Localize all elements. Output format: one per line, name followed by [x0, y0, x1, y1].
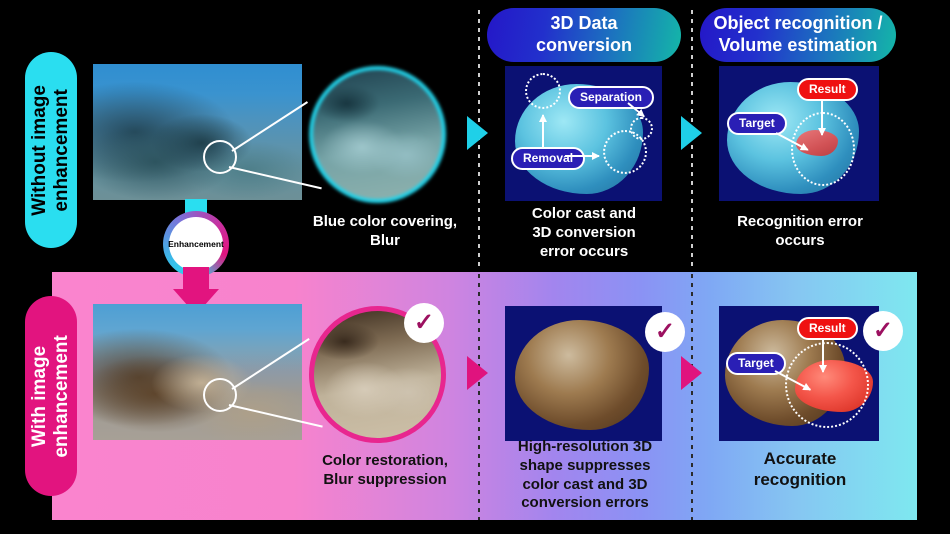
figure-canvas: 3D Data conversion Object recognition / …	[0, 0, 950, 534]
caption-line-1: Accurate	[710, 448, 890, 469]
caption-line-1: Recognition error	[710, 213, 890, 232]
flow-arrow-bottom-2	[681, 356, 702, 390]
caption-3d-raw: Color cast and 3D conversion error occur…	[495, 205, 673, 261]
header-pill-3d-conversion: 3D Data conversion	[487, 8, 681, 62]
enhancement-badge-inner: Enhancement	[169, 217, 223, 271]
tag-removal: Removal	[511, 147, 585, 170]
caption-line-2: Blur suppression	[290, 471, 480, 490]
flow-arrow-top-1	[467, 116, 488, 150]
tag-result-raw: Result	[797, 78, 858, 101]
panel-3d-raw: Separation Removal	[505, 66, 662, 201]
flow-arrow-bottom-1	[467, 356, 488, 390]
dotted-ring-removal-region	[525, 73, 561, 109]
caption-line-2: 3D conversion	[495, 224, 673, 243]
arrow-result-raw	[821, 101, 823, 135]
row-label-line-2: enhancement	[51, 335, 72, 457]
magnifier-raw-detail	[309, 66, 446, 203]
caption-enhanced-photo: Color restoration, Blur suppression	[290, 452, 480, 490]
model-3d-enhanced	[515, 320, 649, 430]
caption-line-1: Blue color covering,	[290, 213, 480, 232]
enhancement-arrow-shaft	[183, 267, 209, 291]
row-label-line-1: Without image	[29, 85, 50, 216]
row-label-line-1: With image	[29, 345, 50, 446]
caption-recognition-enhanced: Accurate recognition	[710, 448, 890, 491]
check-badge-3d-enhanced: ✓	[645, 312, 685, 352]
header-line-1: Object recognition /	[713, 13, 882, 35]
panel-recognition-enhanced: Result Target	[719, 306, 879, 441]
flow-arrow-top-2	[681, 116, 702, 150]
enhancement-label: Enhancement	[168, 239, 224, 249]
header-line-1: 3D Data	[536, 13, 632, 35]
arrow-removal-to-right-region	[565, 155, 599, 157]
row-label-line-2: enhancement	[51, 89, 72, 211]
caption-line-2: occurs	[710, 232, 890, 251]
arrow-removal-to-top-region	[542, 115, 544, 147]
caption-3d-enhanced: High-resolution 3D shape suppresses colo…	[495, 438, 675, 513]
caption-line-1: High-resolution 3D	[495, 438, 675, 457]
caption-line-1: Color cast and	[495, 205, 673, 224]
header-line-2: conversion	[536, 35, 632, 57]
caption-line-2: recognition	[710, 469, 890, 490]
photo-enhanced-underwater	[93, 304, 302, 440]
panel-3d-enhanced	[505, 306, 662, 441]
caption-recognition-raw: Recognition error occurs	[710, 213, 890, 251]
caption-line-4: conversion errors	[495, 494, 675, 513]
header-line-2: Volume estimation	[713, 35, 882, 57]
caption-line-2: Blur	[290, 232, 480, 251]
tag-separation: Separation	[568, 86, 654, 109]
row-label-with-enhancement: With image enhancement	[25, 296, 77, 496]
tag-target-raw: Target	[727, 112, 787, 135]
header-pill-object-recognition: Object recognition / Volume estimation	[700, 8, 896, 62]
caption-line-2: shape suppresses	[495, 457, 675, 476]
column-separator-2-bottom	[691, 274, 693, 520]
caption-line-3: error occurs	[495, 243, 673, 262]
panel-recognition-raw: Result Target	[719, 66, 879, 201]
check-badge-enhanced-photo: ✓	[404, 303, 444, 343]
caption-line-1: Color restoration,	[290, 452, 480, 471]
dotted-ring-removal-region-2	[603, 130, 647, 174]
photo-raw-underwater	[93, 64, 302, 200]
arrow-result-enhanced	[822, 340, 824, 372]
tag-result-enhanced: Result	[797, 317, 858, 340]
caption-raw-photo: Blue color covering, Blur	[290, 213, 480, 251]
dotted-ring-recognition-enhanced	[785, 342, 869, 428]
row-label-without-enhancement: Without image enhancement	[25, 52, 77, 248]
caption-line-3: color cast and 3D	[495, 476, 675, 495]
check-badge-recognition-enhanced: ✓	[863, 311, 903, 351]
